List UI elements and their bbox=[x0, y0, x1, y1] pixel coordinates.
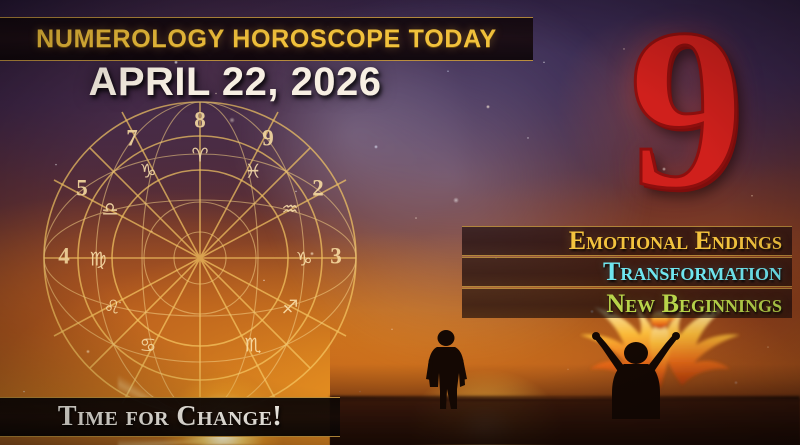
svg-text:5: 5 bbox=[76, 175, 88, 200]
keyword-label-emotional-endings: Emotional Endings bbox=[569, 226, 782, 256]
keyword-label-transformation: Transformation bbox=[603, 257, 782, 287]
keyword-row-3: New Beginnings bbox=[462, 288, 792, 318]
horoscope-graphic: 8 9 2 3 7 5 4 ♈ ♓ ♒ ♑ ♐ ♏ ♑ ♎ ♍ ♌ ♋ bbox=[0, 0, 800, 445]
keyword-row-1: Emotional Endings bbox=[462, 226, 792, 256]
svg-text:♎: ♎ bbox=[101, 199, 118, 221]
svg-text:♑: ♑ bbox=[295, 249, 312, 271]
svg-text:7: 7 bbox=[126, 125, 138, 150]
svg-text:♓: ♓ bbox=[244, 161, 261, 183]
svg-text:9: 9 bbox=[262, 125, 274, 150]
svg-text:2: 2 bbox=[312, 175, 324, 200]
numerology-number: 9 bbox=[629, 0, 744, 224]
svg-text:4: 4 bbox=[58, 243, 70, 268]
svg-text:♒: ♒ bbox=[281, 199, 298, 221]
svg-text:3: 3 bbox=[330, 243, 342, 268]
date-label: APRIL 22, 2026 bbox=[0, 60, 470, 105]
svg-text:8: 8 bbox=[194, 107, 206, 132]
keyword-row-2: Transformation bbox=[462, 257, 792, 287]
svg-text:♈: ♈ bbox=[191, 145, 208, 167]
svg-text:♍: ♍ bbox=[89, 249, 106, 271]
keyword-label-new-beginnings: New Beginnings bbox=[606, 289, 782, 319]
page-title: NUMEROLOGY HOROSCOPE TODAY bbox=[36, 25, 497, 54]
title-band: NUMEROLOGY HOROSCOPE TODAY bbox=[0, 17, 533, 61]
arms-raised-person-silhouette bbox=[590, 319, 682, 419]
walking-person-silhouette bbox=[418, 329, 474, 411]
cta-label: Time for Change! bbox=[58, 401, 282, 433]
svg-text:♑: ♑ bbox=[139, 161, 156, 183]
cta-banner: Time for Change! bbox=[0, 397, 340, 437]
